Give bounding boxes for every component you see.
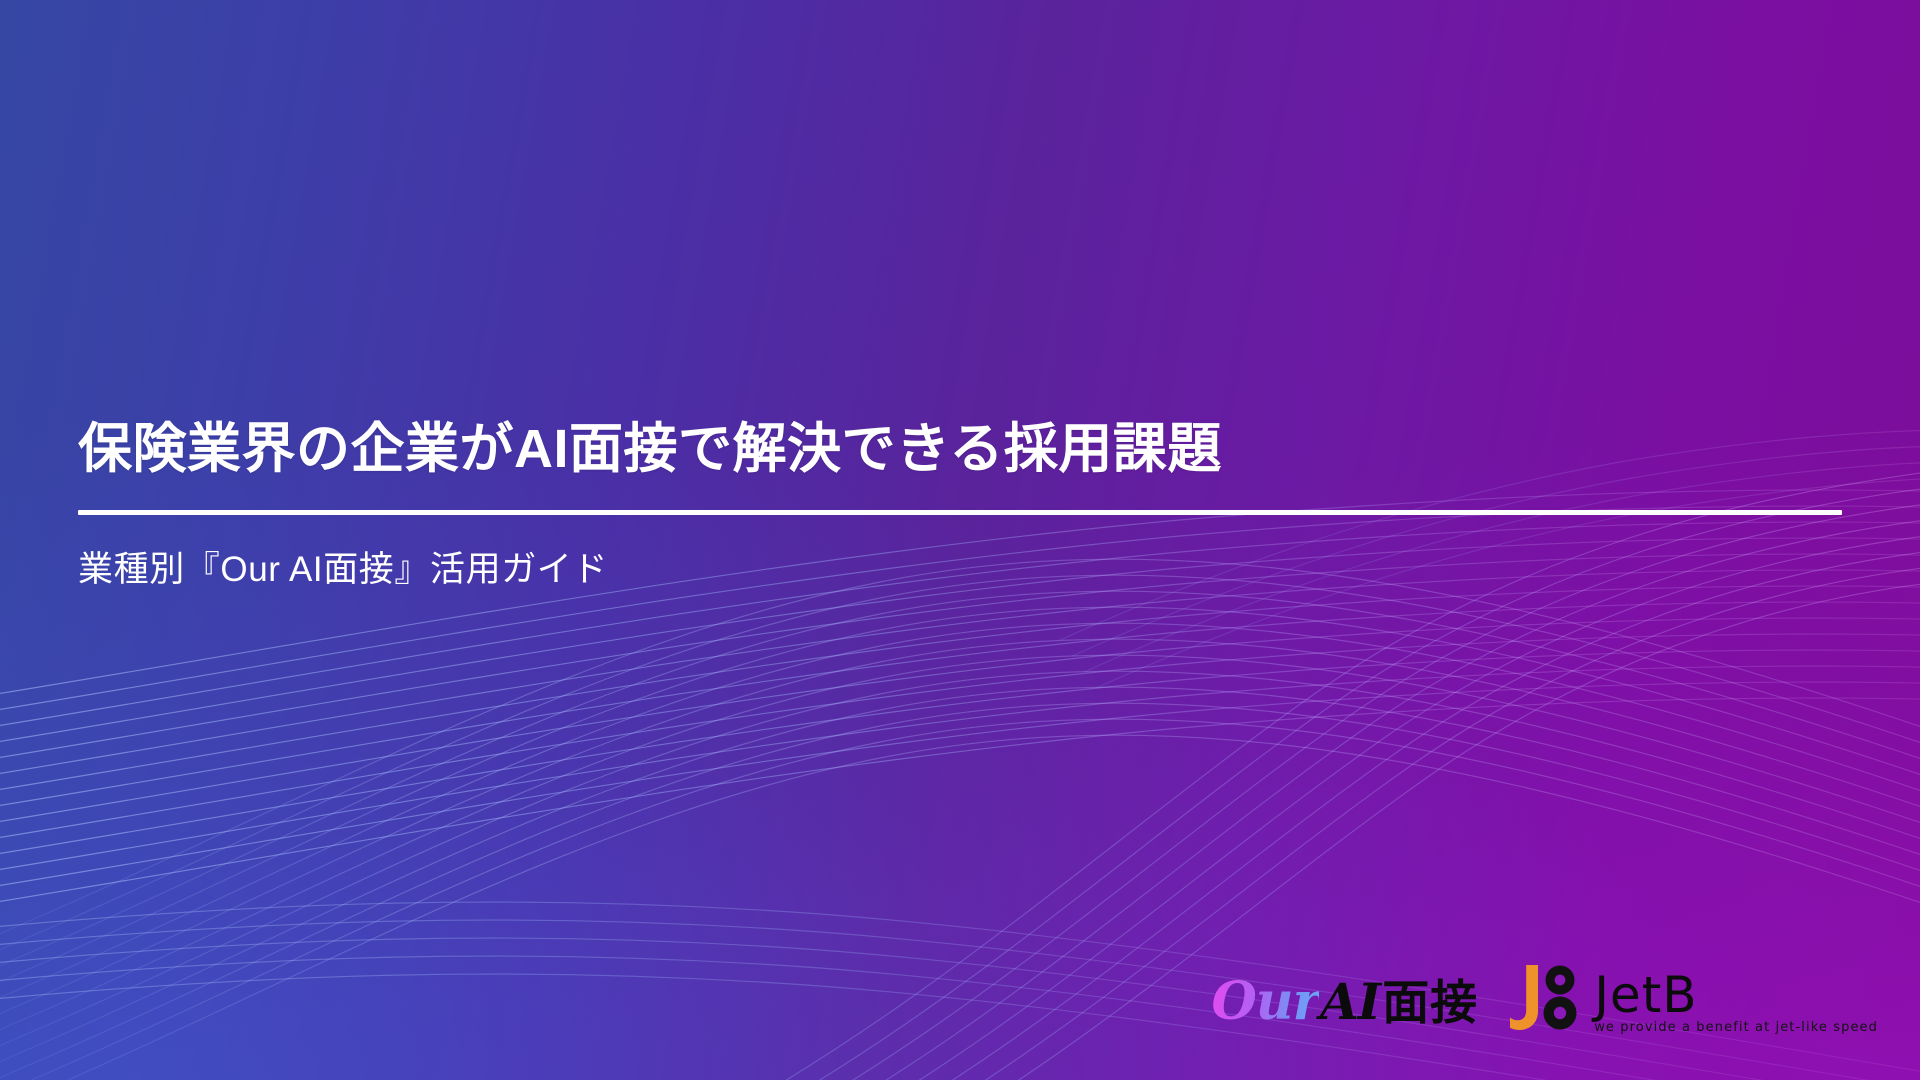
jetb-wordmark: JetB xyxy=(1594,970,1697,1020)
jetb-tagline: we provide a benefit at jet-like speed xyxy=(1594,1021,1878,1034)
title-divider xyxy=(78,510,1842,515)
page-subtitle: 業種別『Our AI面接』活用ガイド xyxy=(78,547,1842,593)
ourai-interview-logo: Our AI 面接 xyxy=(1212,976,1479,1028)
jetb-mark-icon xyxy=(1508,963,1582,1040)
title-slide: 保険業界の企業がAI面接で解決できる採用課題 業種別『Our AI面接』活用ガイ… xyxy=(0,0,1920,1080)
page-title: 保険業界の企業がAI面接で解決できる採用課題 xyxy=(78,418,1842,482)
jetb-text-block: JetB we provide a benefit at jet-like sp… xyxy=(1594,970,1878,1034)
ourai-logo-mensetsu-text: 面接 xyxy=(1382,980,1478,1027)
jetb-logo: JetB we provide a benefit at jet-like sp… xyxy=(1508,963,1878,1040)
logo-bar: Our AI 面接 JetB we provide a benefit at j… xyxy=(1212,963,1879,1040)
slide-content: 保険業界の企業がAI面接で解決できる採用課題 業種別『Our AI面接』活用ガイ… xyxy=(78,418,1842,592)
ourai-logo-our-text: Our xyxy=(1212,976,1320,1028)
ourai-logo-ai-text: AI xyxy=(1320,977,1380,1027)
